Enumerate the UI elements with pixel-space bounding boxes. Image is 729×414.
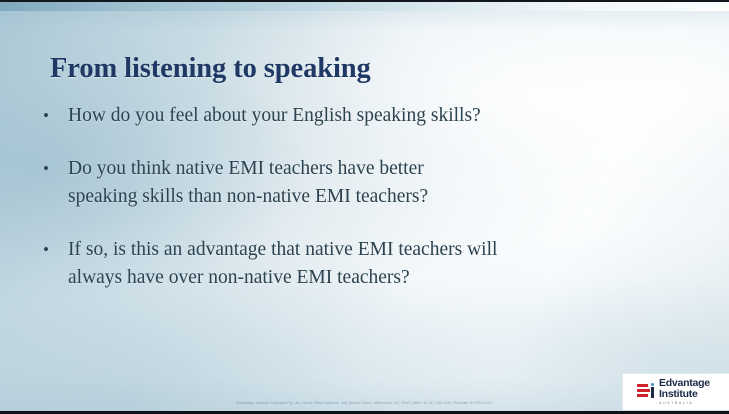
slide-title: From listening to speaking [50,53,371,85]
bullet-text: If so, is this an advantage that native … [68,236,689,292]
bullet-line: If so, is this an advantage that native … [68,236,689,264]
logo-line-2: Institute [659,389,710,400]
bullet-point-icon: • [38,102,68,130]
bullet-list: • How do you feel about your English spe… [38,102,689,317]
bullet-line: speaking skills than non-native EMI teac… [68,183,689,211]
bullet-text: Do you think native EMI teachers have be… [68,155,689,211]
logo-wordmark: Edvantage Institute AUSTRALIA [659,378,710,406]
brand-logo: Edvantage Institute AUSTRALIA [622,373,729,410]
footer-legal-text: Edvantage Institute Australia Pty Ltd | … [0,401,729,405]
bullet-item: • Do you think native EMI teachers have … [38,155,689,211]
logo-bar-2 [637,389,650,392]
logo-stem [651,387,654,398]
logo-bar-1 [637,384,648,387]
bullet-line: always have over non-native EMI teachers… [68,264,689,292]
bullet-point-icon: • [38,236,68,264]
presentation-slide: From listening to speaking • How do you … [0,0,729,414]
bullet-line: Do you think native EMI teachers have be… [68,155,689,183]
edvantage-logo-icon [637,383,654,401]
logo-bar-3 [637,394,648,397]
background-top-band [0,2,729,11]
bullet-text: How do you feel about your English speak… [68,102,689,130]
logo-dot [651,383,654,386]
bullet-item: • How do you feel about your English spe… [38,102,689,130]
bullet-item: • If so, is this an advantage that nativ… [38,236,689,292]
logo-line-3: AUSTRALIA [659,402,710,406]
bullet-point-icon: • [38,155,68,183]
logo-line-1: Edvantage [659,378,710,389]
bullet-line: How do you feel about your English speak… [68,102,689,130]
